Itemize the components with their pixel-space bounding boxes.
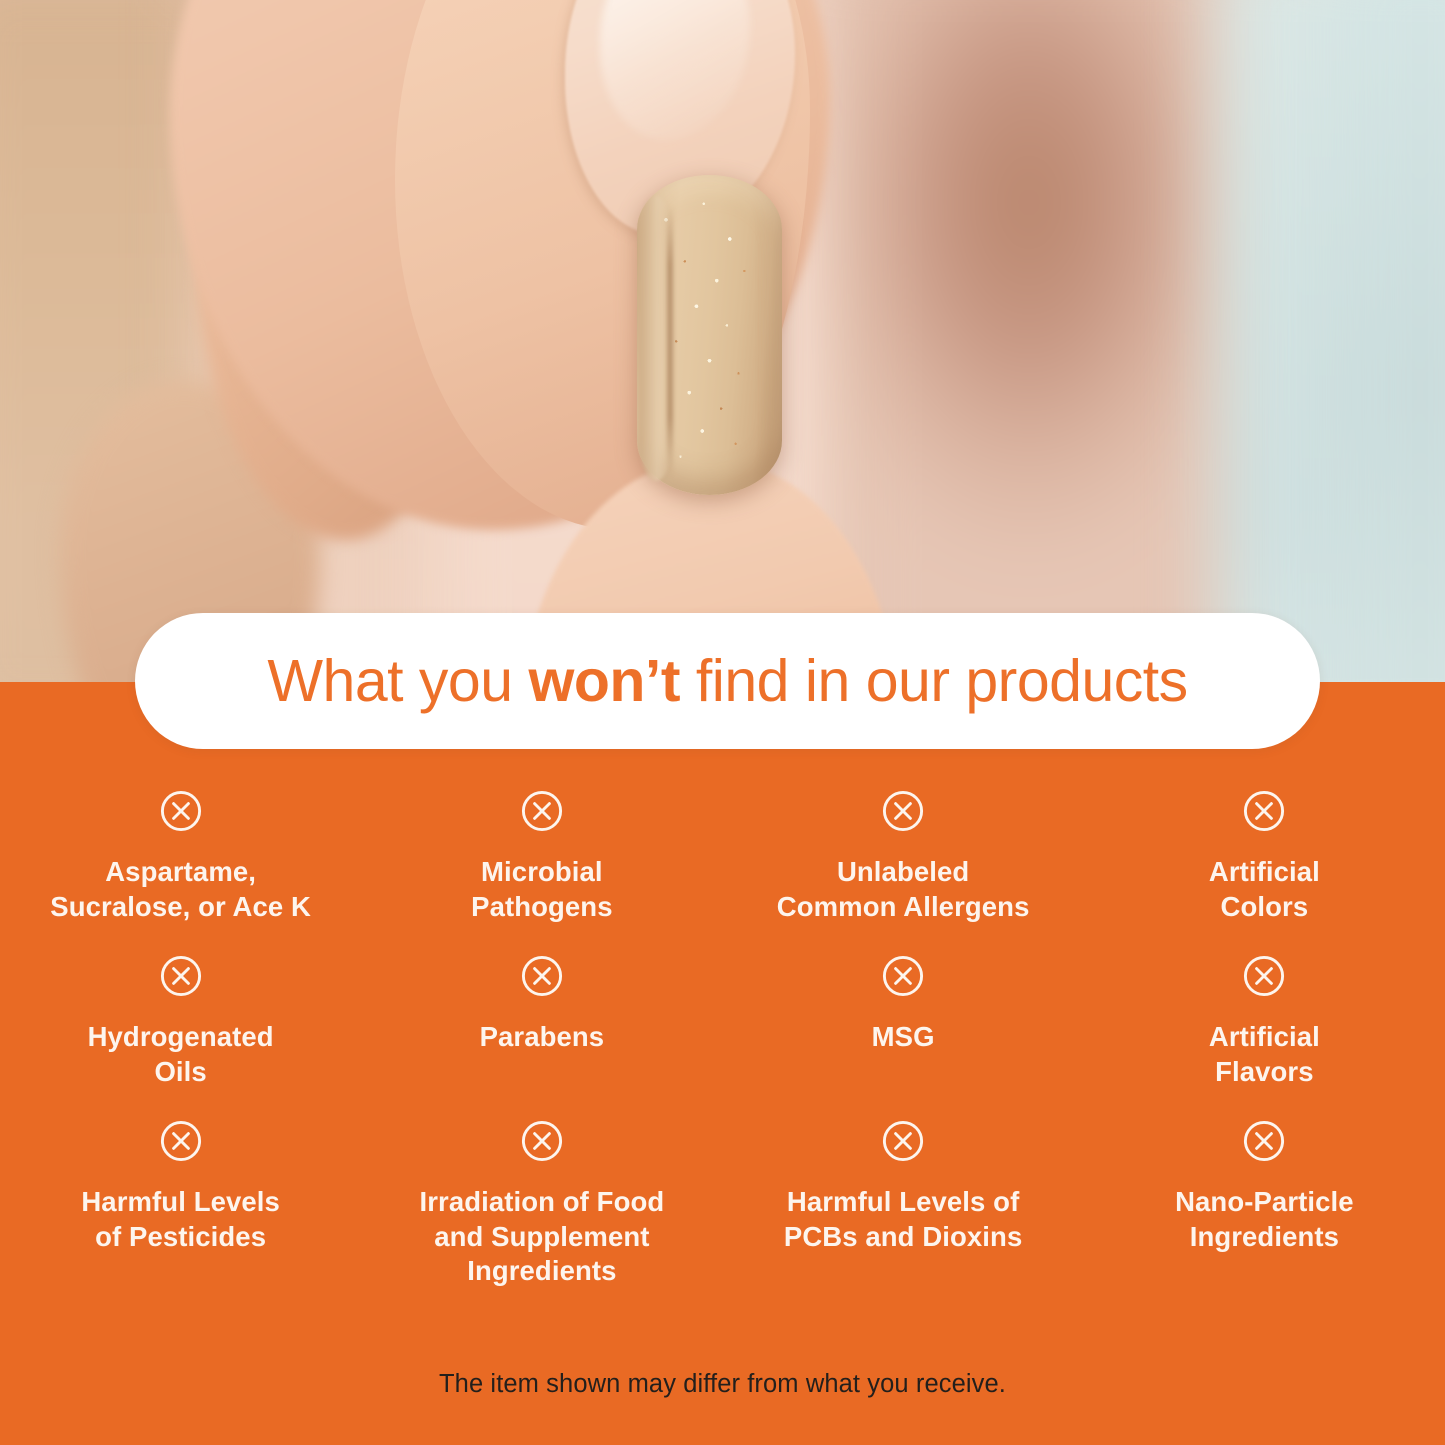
page-title-segment: What you: [267, 648, 528, 714]
headline-card: What you won’t find in our products: [135, 613, 1320, 749]
exclusion-label: ArtificialColors: [1209, 855, 1320, 924]
exclusion-label-line: Flavors: [1215, 1056, 1314, 1087]
exclusion-label-line: Oils: [154, 1056, 206, 1087]
exclusion-item: Parabens: [361, 955, 722, 1120]
exclusion-label: HydrogenatedOils: [88, 1020, 274, 1089]
exclusion-item: MicrobialPathogens: [361, 790, 722, 955]
photo-background-far-right-2: [1330, 0, 1445, 684]
exclusion-label: MicrobialPathogens: [471, 855, 612, 924]
exclusion-label-line: of Pesticides: [95, 1221, 266, 1252]
tablet-edge-shadow: [667, 205, 673, 477]
circle-x-icon: [882, 955, 924, 997]
exclusion-item: UnlabeledCommon Allergens: [723, 790, 1084, 955]
exclusion-label: Parabens: [480, 1020, 605, 1055]
exclusion-label-line: Artificial: [1209, 1021, 1320, 1052]
circle-x-icon: [882, 790, 924, 832]
circle-x-icon: [521, 955, 563, 997]
circle-x-icon: [160, 955, 202, 997]
circle-x-icon: [160, 1120, 202, 1162]
exclusion-label-line: Harmful Levels: [81, 1186, 280, 1217]
page-title-emphasis: won’t: [528, 648, 680, 714]
disclaimer-note: The item shown may differ from what you …: [0, 1370, 1445, 1399]
exclusion-item: Harmful Levelsof Pesticides: [0, 1120, 361, 1305]
exclusions-panel: Aspartame,Sucralose, or Ace KMicrobialPa…: [0, 682, 1445, 1445]
exclusion-label-line: Sucralose, or Ace K: [50, 891, 311, 922]
circle-x-icon: [521, 790, 563, 832]
exclusion-label-line: PCBs and Dioxins: [784, 1221, 1022, 1252]
exclusion-label: Nano-ParticleIngredients: [1175, 1185, 1354, 1254]
exclusion-label: Irradiation of Foodand SupplementIngredi…: [419, 1185, 664, 1289]
circle-x-icon: [521, 1120, 563, 1162]
exclusions-grid: Aspartame,Sucralose, or Ace KMicrobialPa…: [0, 790, 1445, 1305]
exclusion-label-line: Unlabeled: [837, 856, 969, 887]
exclusion-label-line: Ingredients: [467, 1255, 616, 1286]
exclusion-label-line: Pathogens: [471, 891, 612, 922]
product-infographic: Aspartame,Sucralose, or Ace KMicrobialPa…: [0, 0, 1445, 1445]
page-title: What you won’t find in our products: [267, 647, 1187, 715]
exclusion-item: ArtificialFlavors: [1084, 955, 1445, 1120]
exclusion-label-line: Microbial: [481, 856, 603, 887]
exclusion-label-line: Hydrogenated: [88, 1021, 274, 1052]
exclusion-item: MSG: [723, 955, 1084, 1120]
exclusion-label-line: Artificial: [1209, 856, 1320, 887]
page-title-segment: find in our products: [680, 648, 1188, 714]
exclusion-item: ArtificialColors: [1084, 790, 1445, 955]
exclusion-label: UnlabeledCommon Allergens: [777, 855, 1030, 924]
exclusion-item: Nano-ParticleIngredients: [1084, 1120, 1445, 1305]
exclusion-label: Harmful Levelsof Pesticides: [81, 1185, 280, 1254]
exclusion-item: Irradiation of Foodand SupplementIngredi…: [361, 1120, 722, 1305]
exclusion-label-line: Nano-Particle: [1175, 1186, 1354, 1217]
exclusion-label-line: Common Allergens: [777, 891, 1030, 922]
exclusion-label-line: Parabens: [480, 1021, 605, 1052]
circle-x-icon: [1243, 1120, 1285, 1162]
exclusion-label: Harmful Levels ofPCBs and Dioxins: [784, 1185, 1022, 1254]
exclusion-label: ArtificialFlavors: [1209, 1020, 1320, 1089]
circle-x-icon: [882, 1120, 924, 1162]
exclusion-item: HydrogenatedOils: [0, 955, 361, 1120]
hero-photo: [0, 0, 1445, 684]
exclusion-item: Aspartame,Sucralose, or Ace K: [0, 790, 361, 955]
exclusion-label-line: Harmful Levels of: [787, 1186, 1019, 1217]
photo-background-right: [840, 0, 1260, 684]
exclusion-label: MSG: [872, 1020, 935, 1055]
exclusion-label-line: Irradiation of Food: [419, 1186, 664, 1217]
circle-x-icon: [1243, 790, 1285, 832]
circle-x-icon: [1243, 955, 1285, 997]
exclusion-label-line: MSG: [872, 1021, 935, 1052]
exclusion-label: Aspartame,Sucralose, or Ace K: [50, 855, 311, 924]
exclusion-label-line: Ingredients: [1190, 1221, 1339, 1252]
exclusion-label-line: Aspartame,: [105, 856, 256, 887]
exclusion-item: Harmful Levels ofPCBs and Dioxins: [723, 1120, 1084, 1305]
exclusion-label-line: and Supplement: [434, 1221, 649, 1252]
exclusion-label-line: Colors: [1221, 891, 1309, 922]
circle-x-icon: [160, 790, 202, 832]
